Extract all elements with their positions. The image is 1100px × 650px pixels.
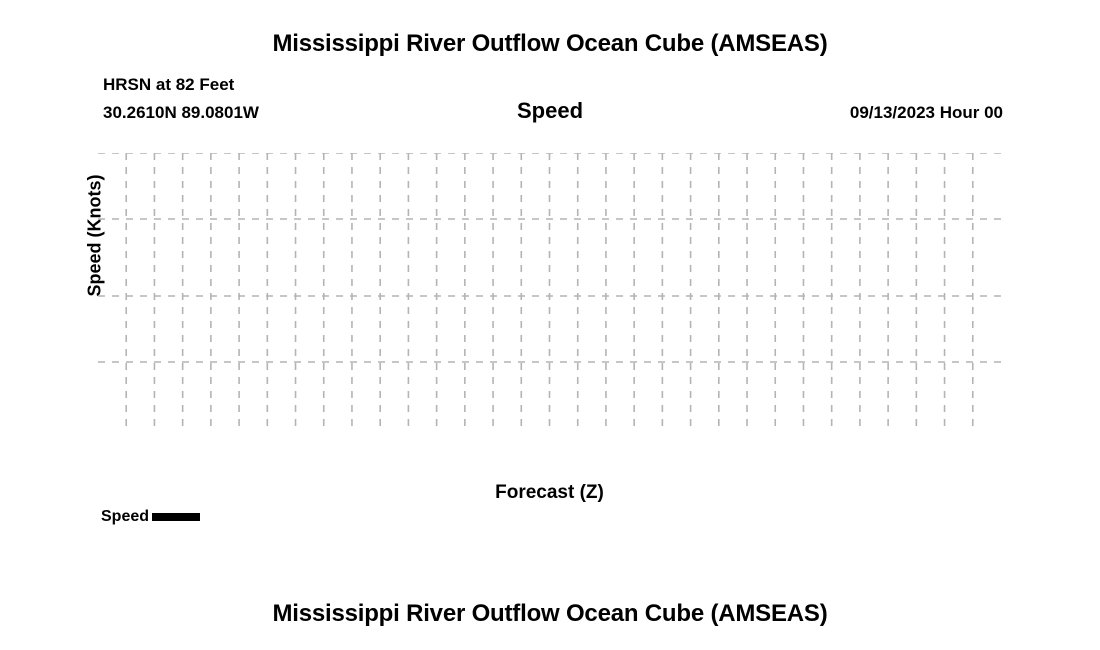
legend: Speed bbox=[101, 508, 200, 526]
page-title-bottom: Mississippi River Outflow Ocean Cube (AM… bbox=[0, 600, 1100, 628]
plot-area bbox=[98, 153, 1001, 428]
chart-page: Mississippi River Outflow Ocean Cube (AM… bbox=[0, 0, 1100, 650]
run-time-label: 09/13/2023 Hour 00 bbox=[850, 103, 1003, 123]
page-title-top: Mississippi River Outflow Ocean Cube (AM… bbox=[0, 30, 1100, 58]
vertical-gridlines bbox=[126, 153, 973, 428]
legend-line-swatch bbox=[152, 513, 200, 521]
speed-line-chart bbox=[98, 153, 1001, 428]
legend-label: Speed bbox=[101, 508, 149, 526]
station-depth-label: HRSN at 82 Feet bbox=[103, 75, 234, 95]
x-axis-label: Forecast (Z) bbox=[98, 482, 1001, 504]
